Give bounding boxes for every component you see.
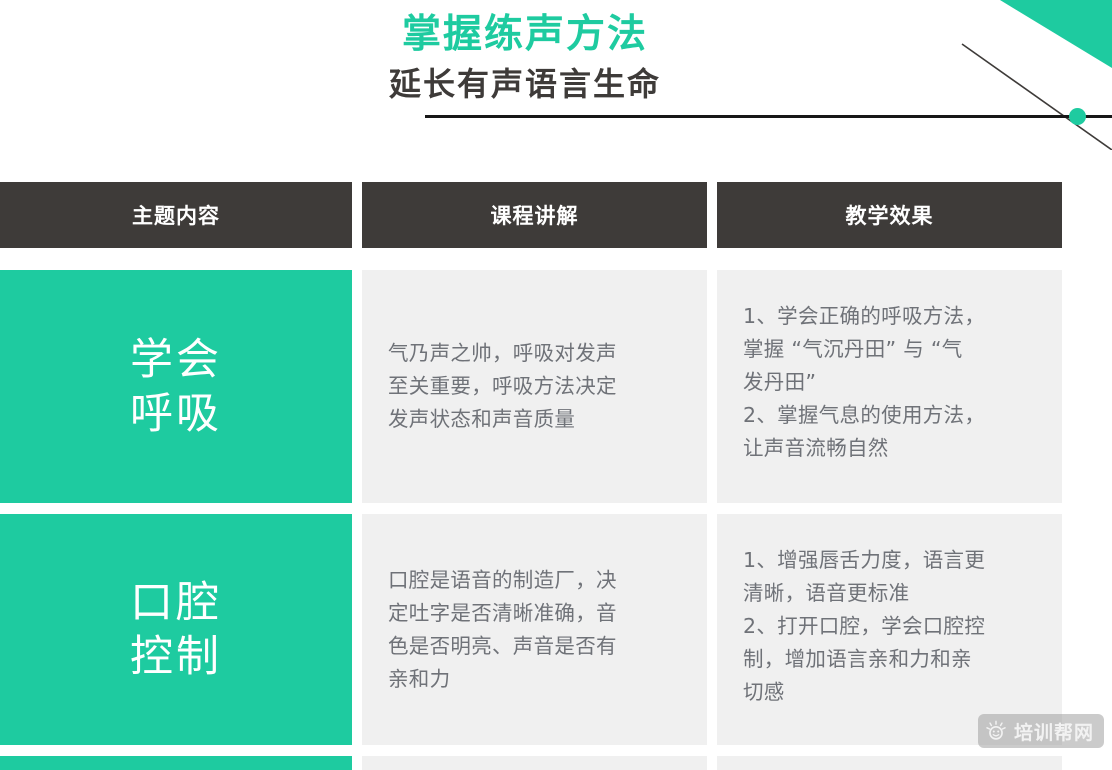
- table-header-row: 主题内容 课程讲解 教学效果: [0, 182, 1062, 248]
- lecture-line: 定吐字是否清晰准确，音: [388, 597, 681, 630]
- lecture-line: 亲和力: [388, 663, 681, 696]
- row-gap: [0, 745, 1062, 756]
- effect-line: 发丹田”: [743, 366, 1036, 399]
- lecture-line: 发声状态和声音质量: [388, 403, 681, 436]
- sun-face-icon: [985, 720, 1007, 742]
- column-spacer: [707, 756, 717, 770]
- topic-cell: 学会 呼吸: [0, 270, 352, 503]
- page-subtitle: 延长有声语言生命: [0, 62, 1050, 106]
- column-spacer: [352, 514, 362, 745]
- effect-line: 让声音流畅自然: [743, 432, 1036, 465]
- column-spacer: [352, 756, 362, 770]
- column-spacer: [707, 270, 717, 503]
- banner-horizontal-rule: [425, 115, 1112, 118]
- effect-cell: [717, 756, 1062, 770]
- effect-line: 掌握 “气沉丹田” 与 “气: [743, 333, 1036, 366]
- lecture-line: 气乃声之帅，呼吸对发声: [388, 337, 681, 370]
- lecture-cell: 口腔是语音的制造厂，决 定吐字是否清晰准确，音 色是否明亮、声音是否有 亲和力: [362, 514, 707, 745]
- banner-title-block: 掌握练声方法 延长有声语言生命: [0, 12, 1050, 106]
- column-spacer: [707, 182, 717, 248]
- effect-cell: 1、增强唇舌力度，语言更 清晰，语音更标准 2、打开口腔，学会口腔控 制，增加语…: [717, 514, 1062, 745]
- lecture-cell: [362, 756, 707, 770]
- column-spacer: [352, 182, 362, 248]
- topic-line-2: 呼吸: [130, 387, 222, 441]
- effect-line: 2、打开口腔，学会口腔控: [743, 610, 1036, 643]
- topic-cell: 口腔 控制: [0, 514, 352, 745]
- topic-line-2: 控制: [130, 630, 222, 684]
- header-body-gap: [0, 248, 1062, 270]
- effect-line: 2、掌握气息的使用方法，: [743, 399, 1036, 432]
- effect-line: 清晰，语音更标准: [743, 577, 1036, 610]
- green-rule-dot: [1069, 108, 1086, 125]
- effect-line: 1、增强唇舌力度，语言更: [743, 544, 1036, 577]
- table-row: [0, 756, 1062, 770]
- column-spacer: [707, 514, 717, 745]
- effect-line: 1、学会正确的呼吸方法，: [743, 300, 1036, 333]
- lecture-line: 至关重要，呼吸方法决定: [388, 370, 681, 403]
- site-watermark: 培训帮网: [978, 714, 1104, 748]
- table-row: 学会 呼吸 气乃声之帅，呼吸对发声 至关重要，呼吸方法决定 发声状态和声音质量 …: [0, 270, 1062, 503]
- lecture-cell: 气乃声之帅，呼吸对发声 至关重要，呼吸方法决定 发声状态和声音质量: [362, 270, 707, 503]
- effect-line: 切感: [743, 676, 1036, 709]
- topic-line-1: 学会: [130, 333, 222, 387]
- topic-line-1: 口腔: [130, 576, 222, 630]
- page-title: 掌握练声方法: [0, 12, 1050, 58]
- column-spacer: [352, 270, 362, 503]
- row-gap: [0, 503, 1062, 514]
- watermark-label: 培训帮网: [1014, 718, 1094, 745]
- effect-cell: 1、学会正确的呼吸方法， 掌握 “气沉丹田” 与 “气 发丹田” 2、掌握气息的…: [717, 270, 1062, 503]
- course-table: 主题内容 课程讲解 教学效果 学会 呼吸 气乃声之帅，呼吸对发声 至关重要，呼吸…: [0, 182, 1062, 770]
- table-row: 口腔 控制 口腔是语音的制造厂，决 定吐字是否清晰准确，音 色是否明亮、声音是否…: [0, 514, 1062, 745]
- page-banner: 掌握练声方法 延长有声语言生命: [0, 0, 1112, 150]
- table-header-effect: 教学效果: [717, 182, 1062, 248]
- table-header-lecture: 课程讲解: [362, 182, 707, 248]
- table-header-topic: 主题内容: [0, 182, 352, 248]
- lecture-line: 口腔是语音的制造厂，决: [388, 564, 681, 597]
- effect-line: 制，增加语言亲和力和亲: [743, 643, 1036, 676]
- topic-cell: [0, 756, 352, 770]
- lecture-line: 色是否明亮、声音是否有: [388, 630, 681, 663]
